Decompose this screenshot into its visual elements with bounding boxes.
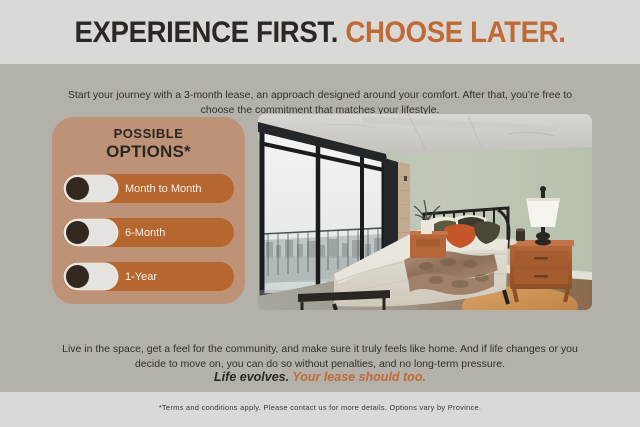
headline-accent: CHOOSE LATER.: [345, 16, 565, 49]
toggle-row-month-to-month[interactable]: Month to Month: [63, 174, 234, 203]
toggle-label: 6-Month: [125, 227, 165, 239]
toggle-switch-icon[interactable]: [65, 176, 117, 201]
toggle-knob-icon: [66, 265, 89, 288]
options-panel-heading: POSSIBLE OPTIONS*: [52, 126, 245, 162]
body-paragraph: Live in the space, get a feel for the co…: [55, 342, 585, 373]
slide-canvas: EXPERIENCE FIRST. CHOOSE LATER. Start yo…: [0, 0, 640, 427]
toggle-row-1-year[interactable]: 1-Year: [63, 262, 234, 291]
bedroom-photo-illustration: [258, 114, 592, 310]
headline-primary: EXPERIENCE FIRST.: [74, 16, 338, 49]
bedroom-photo: [258, 114, 592, 310]
toggle-switch-icon[interactable]: [65, 264, 117, 289]
options-panel: POSSIBLE OPTIONS* Month to Month 6-Month: [52, 117, 245, 304]
options-heading-line2: OPTIONS*: [52, 142, 245, 162]
toggle-knob-icon: [66, 177, 89, 200]
footer-disclaimer: *Terms and conditions apply. Please cont…: [0, 403, 640, 412]
tagline-accent: Your lease should too.: [292, 370, 426, 384]
toggle-switch-icon[interactable]: [65, 220, 117, 245]
lease-options-list: Month to Month 6-Month 1-Year: [63, 174, 234, 306]
toggle-knob-icon: [66, 221, 89, 244]
tagline: Life evolves. Your lease should too.: [0, 369, 640, 385]
toggle-row-6-month[interactable]: 6-Month: [63, 218, 234, 247]
options-heading-line1: POSSIBLE: [52, 126, 245, 142]
tagline-primary: Life evolves.: [214, 370, 289, 384]
page-title: EXPERIENCE FIRST. CHOOSE LATER.: [26, 17, 615, 49]
toggle-label: Month to Month: [125, 183, 201, 195]
toggle-label: 1-Year: [125, 271, 157, 283]
